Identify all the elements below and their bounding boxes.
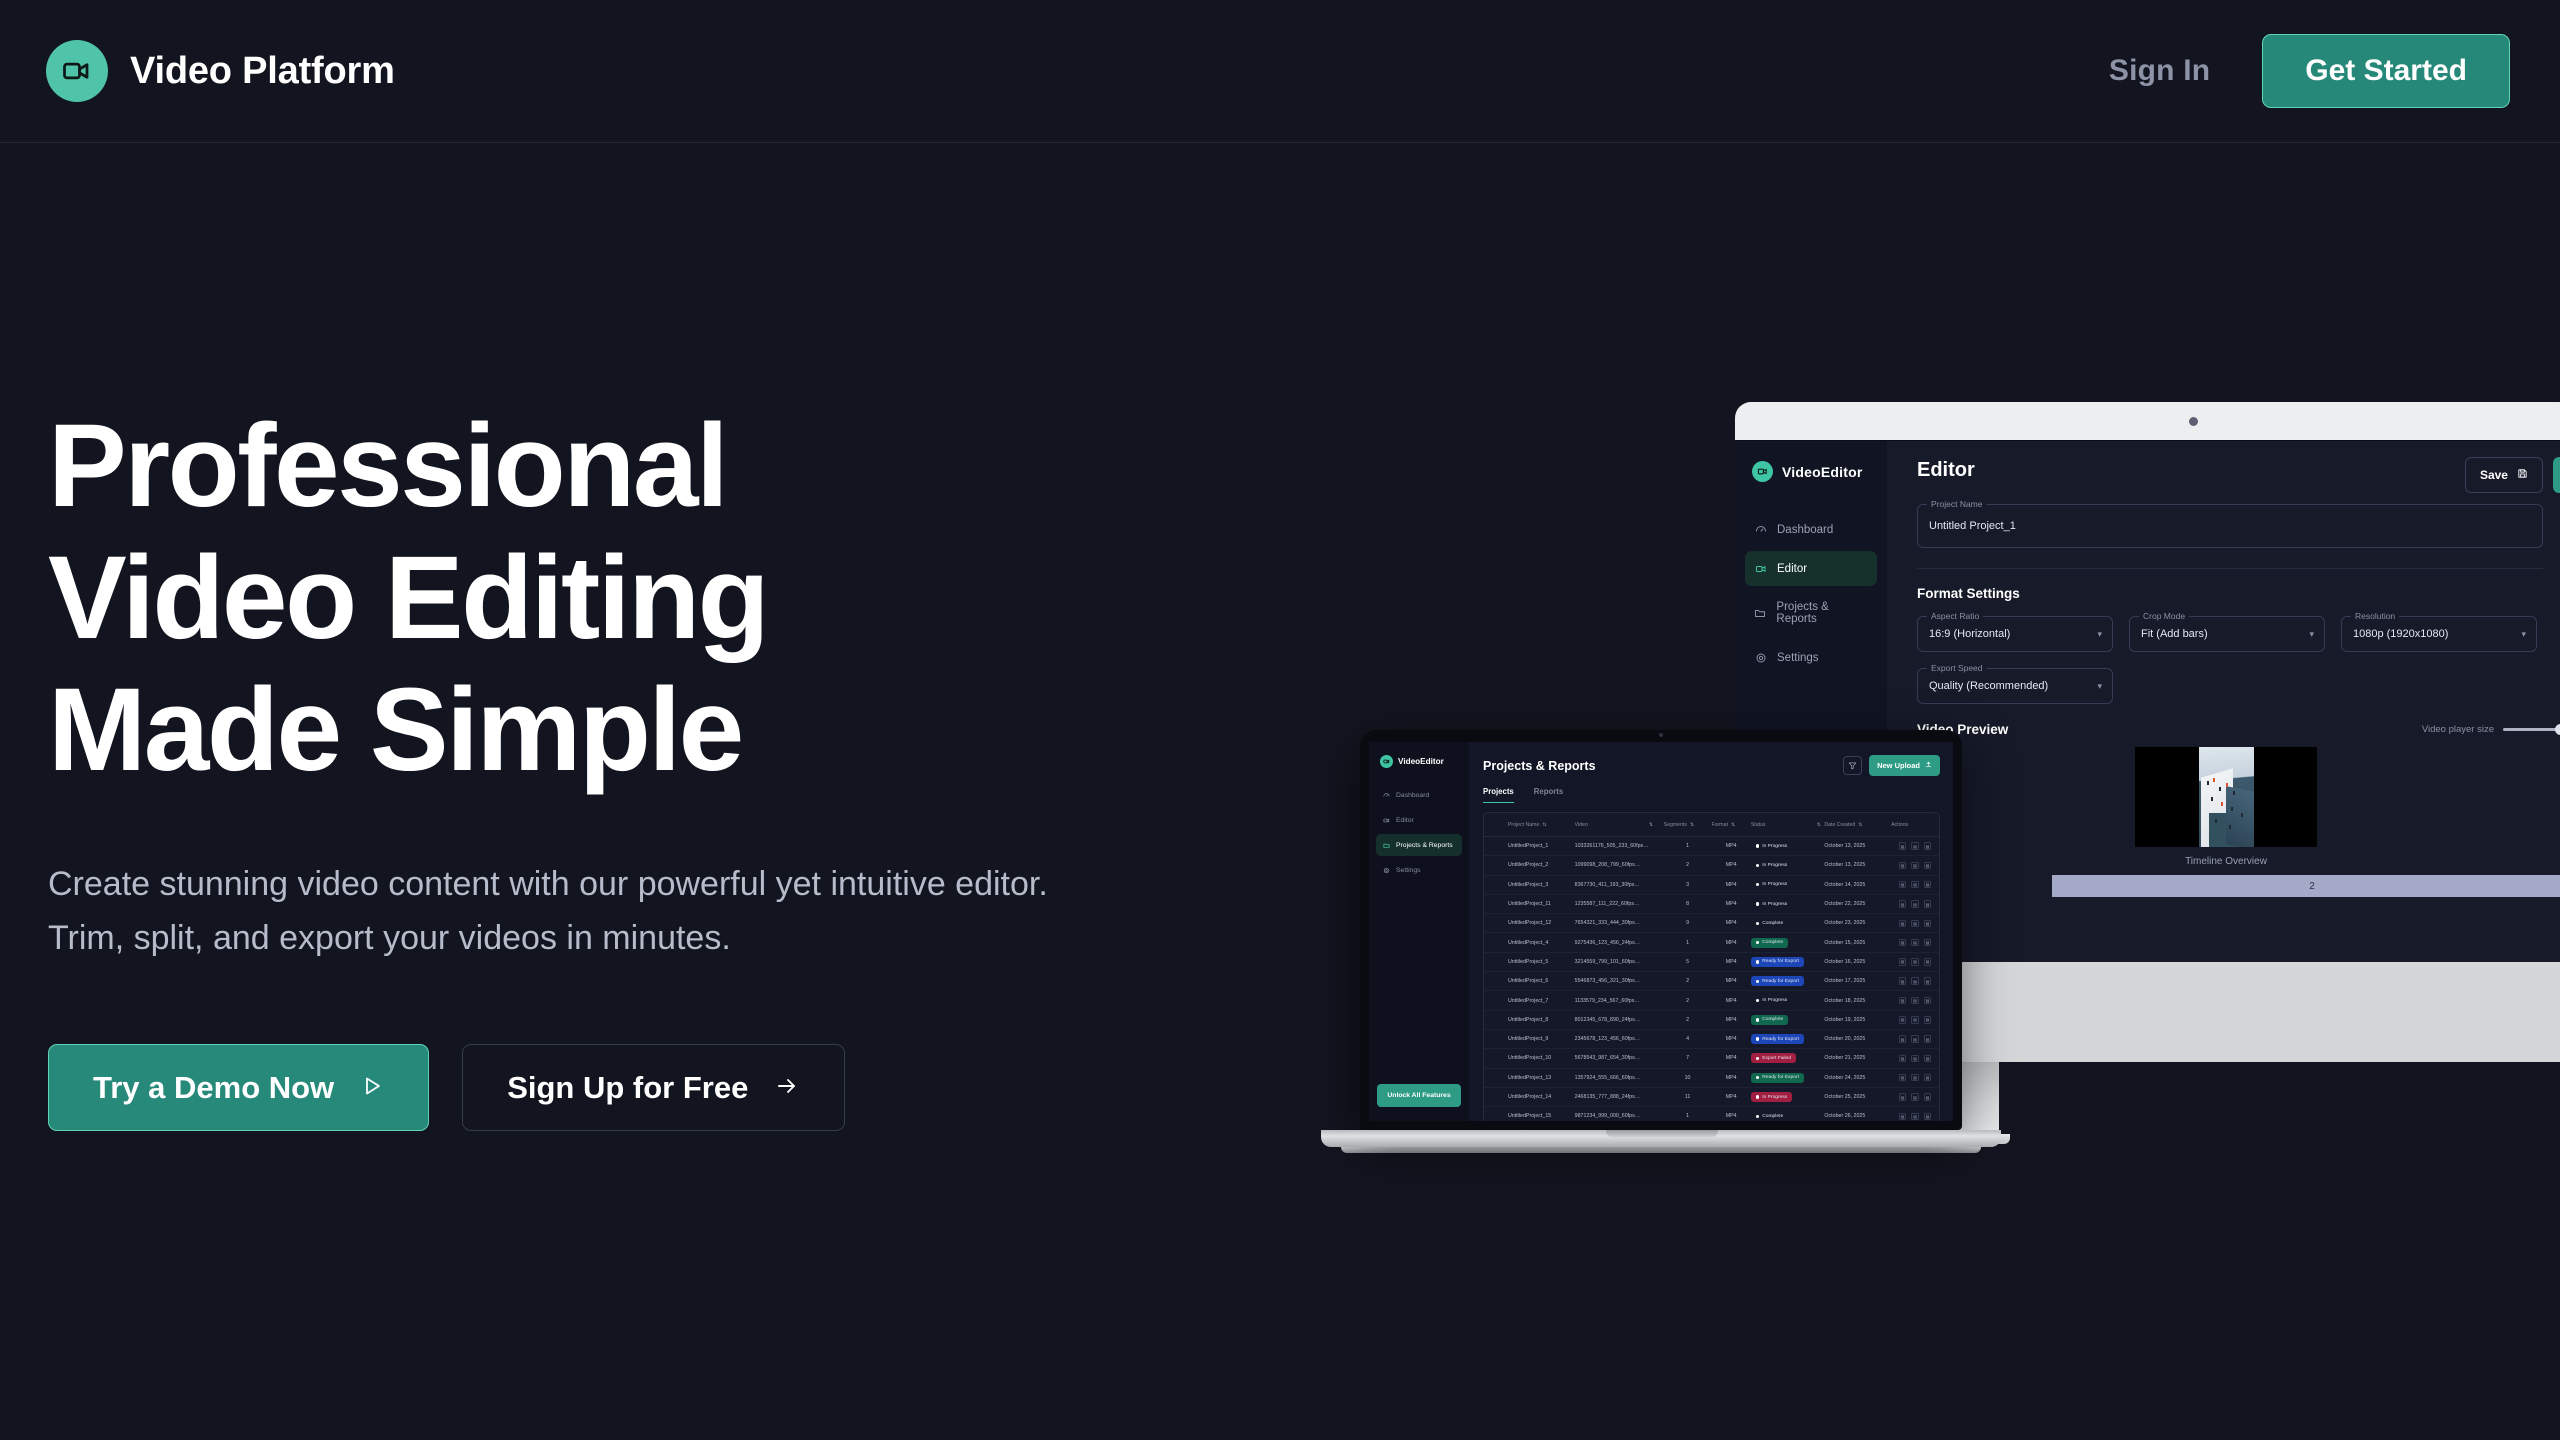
trash-icon[interactable]: ▤ (1924, 881, 1932, 889)
cell-status: In Progress (1751, 841, 1825, 851)
cell-project-name: UntitledProject_15 (1508, 1113, 1575, 1119)
edit-icon[interactable]: ▤ (1899, 1055, 1907, 1063)
status-badge: Ready for Export (1751, 957, 1804, 967)
cell-project-name: UntitledProject_7 (1508, 998, 1575, 1004)
row-checkbox[interactable] (1484, 1074, 1508, 1081)
row-checkbox[interactable] (1484, 958, 1508, 965)
cell-status: In Progress (1751, 1092, 1825, 1102)
sort-icon: ⇅ (1817, 822, 1821, 828)
laptop-trackpad-notch (1606, 1130, 1718, 1137)
editor-header-actions: Save Exp (2465, 457, 2560, 493)
cell-date-created: October 23, 2025 (1824, 920, 1891, 926)
cell-date-created: October 20, 2025 (1824, 1036, 1891, 1042)
edit-icon[interactable]: ▤ (1899, 881, 1907, 889)
hero-title-line-3: Made Simple (48, 664, 742, 796)
sort-icon: ⇅ (1858, 822, 1862, 828)
status-badge: In Progress (1751, 899, 1792, 909)
crop-mode-value: Fit (Add bars) (2141, 628, 2208, 640)
save-button[interactable]: Save (2465, 457, 2543, 493)
cell-format: MP4 (1712, 1055, 1751, 1061)
cell-project-name: UntitledProject_4 (1508, 940, 1575, 946)
download-icon[interactable]: ▤ (1911, 900, 1919, 908)
cell-segments: 1 (1664, 843, 1712, 849)
edit-icon[interactable]: ▤ (1899, 997, 1907, 1005)
row-checkbox[interactable] (1484, 843, 1508, 850)
sidebar-item-settings[interactable]: Settings (1745, 640, 1877, 675)
crop-mode-legend: Crop Mode (2139, 611, 2189, 621)
status-badge: Complete (1751, 1111, 1788, 1121)
sign-up-button[interactable]: Sign Up for Free (462, 1044, 845, 1131)
resolution-value: 1080p (1920x1080) (2353, 628, 2448, 640)
edit-icon[interactable]: ▤ (1899, 1035, 1907, 1043)
cell-format: MP4 (1712, 998, 1751, 1004)
download-icon[interactable]: ▤ (1911, 1093, 1919, 1101)
cell-date-created: October 17, 2025 (1824, 978, 1891, 984)
download-icon[interactable]: ▤ (1911, 1035, 1919, 1043)
cell-format: MP4 (1712, 959, 1751, 965)
header-actions: Sign In Get Started (2109, 34, 2510, 108)
cell-segments: 2 (1664, 862, 1712, 868)
cell-segments: 7 (1664, 1055, 1712, 1061)
table-row[interactable]: UntitledProject_71133579_234_567_60fps…2… (1484, 991, 1939, 1010)
cell-actions: ▤▤▤ (1891, 997, 1939, 1005)
sidebar-label: Projects & Reports (1396, 842, 1453, 849)
video-icon (1754, 562, 1767, 575)
gear-icon (1382, 866, 1390, 874)
export-speed-legend: Export Speed (1927, 663, 1987, 673)
row-checkbox[interactable] (1484, 1113, 1508, 1120)
table-row[interactable]: UntitledProject_142468135_777_888_24fps…… (1484, 1088, 1939, 1107)
cell-format: MP4 (1712, 920, 1751, 926)
get-started-button[interactable]: Get Started (2262, 34, 2510, 108)
cell-video: 8367730_411_193_30fps… (1575, 882, 1664, 888)
cell-video: 3214559_799_101_60fps… (1575, 959, 1664, 965)
table-body: UntitledProject_11033261176_505_233_60fp… (1484, 837, 1939, 1121)
cell-project-name: UntitledProject_14 (1508, 1094, 1575, 1100)
laptop-foot (1341, 1147, 1981, 1153)
new-upload-label: New Upload (1877, 761, 1920, 770)
status-badge: In Progress (1751, 841, 1792, 851)
try-demo-label: Try a Demo Now (93, 1072, 334, 1103)
hero-title-line-1: Professional (48, 400, 726, 532)
unlock-all-features-button[interactable]: Unlock All Features (1377, 1084, 1461, 1107)
table-row[interactable]: UntitledProject_53214559_799_101_60fps…5… (1484, 953, 1939, 972)
download-icon[interactable]: ▤ (1911, 1113, 1919, 1121)
chevron-down-icon: ▾ (2097, 681, 2102, 692)
cell-actions: ▤▤▤ (1891, 862, 1939, 870)
cell-video: 9275436_123_456_24fps… (1575, 940, 1664, 946)
cell-status: Complete (1751, 938, 1825, 948)
webcam-icon (1659, 733, 1663, 737)
cell-status: In Progress (1751, 860, 1825, 870)
resolution-select[interactable]: Resolution 1080p (1920x1080) ▾ (2341, 616, 2537, 652)
hero-cta-group: Try a Demo Now Sign Up for Free (48, 1044, 1108, 1131)
table-row[interactable]: UntitledProject_88012345_678_890_24fps…2… (1484, 1011, 1939, 1030)
table-row[interactable]: UntitledProject_65546873_456_321_30fps…2… (1484, 972, 1939, 991)
cell-project-name: UntitledProject_2 (1508, 862, 1575, 868)
timeline-bar[interactable]: 2 (2052, 875, 2560, 897)
edit-icon[interactable]: ▤ (1899, 862, 1907, 870)
cell-date-created: October 14, 2025 (1824, 882, 1891, 888)
gear-icon (1754, 651, 1767, 664)
cell-segments: 2 (1664, 1017, 1712, 1023)
trash-icon[interactable]: ▤ (1924, 1055, 1932, 1063)
sign-in-link[interactable]: Sign In (2109, 54, 2210, 88)
sort-icon: ⇅ (1731, 822, 1735, 828)
site-header: Video Platform Sign In Get Started (0, 0, 2560, 143)
download-icon[interactable]: ▤ (1911, 997, 1919, 1005)
cell-video: 5546873_456_321_30fps… (1575, 978, 1664, 984)
cell-format: MP4 (1712, 862, 1751, 868)
cell-segments: 2 (1664, 998, 1712, 1004)
row-checkbox[interactable] (1484, 1036, 1508, 1043)
edit-icon[interactable]: ▤ (1899, 900, 1907, 908)
cell-status: Ready for Export (1751, 1034, 1825, 1044)
cell-project-name: UntitledProject_6 (1508, 978, 1575, 984)
sidebar-item-editor[interactable]: Editor (1376, 809, 1462, 831)
arrow-right-icon (774, 1072, 800, 1103)
cell-date-created: October 19, 2025 (1824, 1017, 1891, 1023)
trash-icon[interactable]: ▤ (1924, 842, 1932, 850)
tab-projects[interactable]: Projects (1483, 787, 1514, 803)
edit-icon[interactable]: ▤ (1899, 1074, 1907, 1082)
hero-section: Professional Video Editing Made Simple C… (48, 400, 1108, 1131)
cell-project-name: UntitledProject_10 (1508, 1055, 1575, 1061)
download-icon[interactable]: ▤ (1911, 881, 1919, 889)
column-header-date-created[interactable]: Date Created⇅ (1824, 822, 1891, 828)
brand-name: Video Platform (130, 50, 395, 93)
cell-format: MP4 (1712, 1017, 1751, 1023)
cell-video: 2345678_123_456_60fps… (1575, 1036, 1664, 1042)
download-icon[interactable]: ▤ (1911, 939, 1919, 947)
cell-actions: ▤▤▤ (1891, 1074, 1939, 1082)
cell-actions: ▤▤▤ (1891, 977, 1939, 985)
folder-icon (1382, 841, 1390, 849)
cell-status: In Progress (1751, 899, 1825, 909)
dashboard-icon (1754, 523, 1767, 536)
column-header-video[interactable]: Video⇅ (1575, 822, 1664, 828)
trash-icon[interactable]: ▤ (1924, 1093, 1932, 1101)
edit-icon[interactable]: ▤ (1899, 920, 1907, 928)
edit-icon[interactable]: ▤ (1899, 939, 1907, 947)
folder-icon (1754, 607, 1766, 620)
table-row[interactable]: UntitledProject_92345678_123_456_60fps…4… (1484, 1030, 1939, 1049)
cell-segments: 9 (1664, 920, 1712, 926)
cell-project-name: UntitledProject_5 (1508, 959, 1575, 965)
cell-video: 8012345_678_890_24fps… (1575, 1017, 1664, 1023)
video-icon (1380, 755, 1393, 768)
table-row[interactable]: UntitledProject_11033261176_505_233_60fp… (1484, 837, 1939, 856)
cell-segments: 11 (1664, 1094, 1712, 1100)
edit-icon[interactable]: ▤ (1899, 977, 1907, 985)
sort-icon: ⇅ (1542, 822, 1546, 828)
hero-title-line-2: Video Editing (48, 532, 767, 664)
trash-icon[interactable]: ▤ (1924, 1113, 1932, 1121)
export-button[interactable]: Exp (2553, 457, 2560, 493)
sidebar-label: Projects & Reports (1776, 601, 1868, 625)
download-icon[interactable]: ▤ (1911, 862, 1919, 870)
status-badge: Complete (1751, 918, 1788, 928)
status-badge: Complete (1751, 1015, 1788, 1025)
video-frame-thumbnail (2199, 747, 2254, 847)
cell-format: MP4 (1712, 882, 1751, 888)
download-icon[interactable]: ▤ (1911, 1074, 1919, 1082)
editor-app-logo-text: VideoEditor (1782, 464, 1863, 480)
cell-format: MP4 (1712, 1113, 1751, 1119)
projects-header-actions: New Upload (1843, 755, 1940, 776)
projects-header: Projects & Reports New Upload (1483, 755, 1953, 776)
row-checkbox[interactable] (1484, 1055, 1508, 1062)
export-speed-value: Quality (Recommended) (1929, 680, 2048, 692)
editor-header: Editor (1917, 459, 2560, 482)
sidebar-item-projects-reports[interactable]: Projects & Reports (1376, 834, 1462, 856)
column-header-status[interactable]: Status⇅ (1751, 822, 1825, 828)
chevron-down-icon: ▾ (2521, 629, 2526, 640)
cell-video: 1357924_555_666_60fps… (1575, 1075, 1664, 1081)
format-settings-row-2: Export Speed Quality (Recommended) ▾ (1917, 668, 2560, 704)
projects-main: Projects & Reports New Upload (1469, 742, 1953, 1121)
cell-actions: ▤▤▤ (1891, 881, 1939, 889)
tab-reports[interactable]: Reports (1534, 787, 1563, 803)
edit-icon[interactable]: ▤ (1899, 958, 1907, 966)
divider (1917, 568, 2543, 569)
row-checkbox[interactable] (1484, 862, 1508, 869)
row-checkbox[interactable] (1484, 881, 1508, 888)
sign-up-label: Sign Up for Free (507, 1072, 748, 1103)
cell-status: Complete (1751, 918, 1825, 928)
laptop-screen: VideoEditor Dashboard Editor (1369, 742, 1953, 1121)
floppy-disk-icon (2517, 468, 2528, 482)
try-demo-button[interactable]: Try a Demo Now (48, 1044, 429, 1131)
project-name-field[interactable]: Project Name Untitled Project_1 (1917, 504, 2543, 548)
table-row[interactable]: UntitledProject_131357924_555_666_60fps…… (1484, 1069, 1939, 1088)
cell-date-created: October 24, 2025 (1824, 1075, 1891, 1081)
cell-date-created: October 21, 2025 (1824, 1055, 1891, 1061)
sidebar-item-settings[interactable]: Settings (1376, 859, 1462, 881)
filter-icon[interactable] (1843, 756, 1862, 775)
projects-table: Project Name⇅ Video⇅ Segments⇅ Format⇅ S… (1483, 812, 1940, 1121)
trash-icon[interactable]: ▤ (1924, 977, 1932, 985)
table-row[interactable]: UntitledProject_38367730_411_193_30fps…3… (1484, 876, 1939, 895)
table-row[interactable]: UntitledProject_105678543_987_654_30fps…… (1484, 1049, 1939, 1068)
play-icon (360, 1072, 384, 1103)
trash-icon[interactable]: ▤ (1924, 958, 1932, 966)
download-icon[interactable]: ▤ (1911, 977, 1919, 985)
download-icon[interactable]: ▤ (1911, 1055, 1919, 1063)
download-icon[interactable]: ▤ (1911, 842, 1919, 850)
editor-app-logo: VideoEditor (1735, 461, 1887, 482)
cell-status: In Progress (1751, 880, 1825, 890)
slider-knob[interactable] (2555, 724, 2560, 735)
column-header-actions: Actions (1891, 822, 1939, 828)
editor-page-title: Editor (1917, 459, 1975, 482)
cell-segments: 10 (1664, 1075, 1712, 1081)
edit-icon[interactable]: ▤ (1899, 842, 1907, 850)
cell-format: MP4 (1712, 1036, 1751, 1042)
table-row[interactable]: UntitledProject_21099098_208_799_60fps…2… (1484, 856, 1939, 875)
trash-icon[interactable]: ▤ (1924, 1074, 1932, 1082)
project-name-legend: Project Name (1927, 499, 1987, 509)
format-settings-title: Format Settings (1917, 586, 2560, 601)
trash-icon[interactable]: ▤ (1924, 1016, 1932, 1024)
status-badge: Ready for Export (1751, 1073, 1804, 1083)
trash-icon[interactable]: ▤ (1924, 1035, 1932, 1043)
webcam-icon (2189, 417, 2198, 426)
status-badge: In Progress (1751, 880, 1792, 890)
sidebar-label: Settings (1396, 867, 1421, 874)
monitor-bezel (1735, 402, 2560, 440)
projects-app: VideoEditor Dashboard Editor (1369, 742, 1953, 1121)
laptop-mockup: VideoEditor Dashboard Editor (1360, 730, 2040, 1153)
projects-page-title: Projects & Reports (1483, 759, 1596, 773)
cell-status: Ready for Export (1751, 957, 1825, 967)
cell-actions: ▤▤▤ (1891, 1113, 1939, 1121)
cell-video: 1235587_111_222_60fps… (1575, 901, 1664, 907)
cell-format: MP4 (1712, 901, 1751, 907)
sidebar-item-dashboard[interactable]: Dashboard (1376, 784, 1462, 806)
cell-project-name: UntitledProject_8 (1508, 1017, 1575, 1023)
row-checkbox[interactable] (1484, 978, 1508, 985)
cell-actions: ▤▤▤ (1891, 842, 1939, 850)
aspect-ratio-value: 16:9 (Horizontal) (1929, 628, 2010, 640)
timeline-overview-label: Timeline Overview (2185, 856, 2267, 867)
column-header-project-name[interactable]: Project Name⇅ (1508, 822, 1575, 828)
table-row[interactable]: UntitledProject_159871234_999_000_60fps…… (1484, 1107, 1939, 1121)
cell-video: 5678543_987_654_30fps… (1575, 1055, 1664, 1061)
cell-date-created: October 15, 2025 (1824, 940, 1891, 946)
table-row[interactable]: UntitledProject_49275436_123_456_24fps…1… (1484, 933, 1939, 952)
laptop-base (1321, 1130, 2001, 1147)
cell-project-name: UntitledProject_12 (1508, 920, 1575, 926)
trash-icon[interactable]: ▤ (1924, 997, 1932, 1005)
column-header-segments[interactable]: Segments⇅ (1664, 822, 1712, 828)
video-icon (1382, 816, 1390, 824)
cell-date-created: October 25, 2025 (1824, 1094, 1891, 1100)
trash-icon[interactable]: ▤ (1924, 862, 1932, 870)
cell-actions: ▤▤▤ (1891, 900, 1939, 908)
format-settings-row-1: Aspect Ratio 16:9 (Horizontal) ▾ Crop Mo… (1917, 616, 2560, 652)
sidebar-label: Settings (1777, 652, 1819, 664)
cell-format: MP4 (1712, 940, 1751, 946)
trash-icon[interactable]: ▤ (1924, 900, 1932, 908)
column-header-format[interactable]: Format⇅ (1712, 822, 1751, 828)
download-icon[interactable]: ▤ (1911, 1016, 1919, 1024)
cell-format: MP4 (1712, 1075, 1751, 1081)
sidebar-item-dashboard[interactable]: Dashboard (1745, 512, 1877, 547)
row-checkbox[interactable] (1484, 1016, 1508, 1023)
sidebar-item-projects-reports[interactable]: Projects & Reports (1745, 590, 1877, 636)
cell-status: Ready for Export (1751, 976, 1825, 986)
cell-status: Complete (1751, 1015, 1825, 1025)
cell-status: Ready for Export (1751, 1073, 1825, 1083)
projects-tabs: Projects Reports (1483, 787, 1953, 803)
brand-logo[interactable]: Video Platform (46, 40, 395, 102)
sidebar-label: Editor (1777, 563, 1807, 575)
slider-track[interactable] (2503, 728, 2560, 731)
dashboard-icon (1382, 791, 1390, 799)
cell-status: In Progress (1751, 996, 1825, 1006)
edit-icon[interactable]: ▤ (1899, 1113, 1907, 1121)
cell-segments: 1 (1664, 1113, 1712, 1119)
cell-video: 1033261176_505_233_60fps… (1575, 843, 1664, 849)
save-label: Save (2480, 468, 2508, 482)
project-name-value: Untitled Project_1 (1929, 520, 2016, 532)
editor-nav: Dashboard Editor Projects & Reports (1735, 512, 1887, 675)
upload-icon (1925, 761, 1932, 770)
cell-segments: 5 (1664, 959, 1712, 965)
crop-mode-select[interactable]: Crop Mode Fit (Add bars) ▾ (2129, 616, 2325, 652)
download-icon[interactable]: ▤ (1911, 920, 1919, 928)
table-header-row: Project Name⇅ Video⇅ Segments⇅ Format⇅ S… (1484, 813, 1939, 837)
select-all-checkbox[interactable] (1484, 822, 1508, 827)
video-icon (1752, 461, 1773, 482)
cell-segments: 2 (1664, 978, 1712, 984)
cell-segments: 4 (1664, 1036, 1712, 1042)
cell-status: Export Failed (1751, 1053, 1825, 1063)
device-showcase: VideoEditor Dashboard Editor (1360, 380, 2560, 1200)
projects-app-logo-text: VideoEditor (1398, 757, 1444, 766)
row-checkbox[interactable] (1484, 920, 1508, 927)
cell-actions: ▤▤▤ (1891, 1055, 1939, 1063)
cell-actions: ▤▤▤ (1891, 1016, 1939, 1024)
export-speed-select[interactable]: Export Speed Quality (Recommended) ▾ (1917, 668, 2113, 704)
cell-date-created: October 26, 2025 (1824, 1113, 1891, 1119)
new-upload-button[interactable]: New Upload (1869, 755, 1940, 776)
edit-icon[interactable]: ▤ (1899, 1093, 1907, 1101)
cell-format: MP4 (1712, 843, 1751, 849)
table-row[interactable]: UntitledProject_127654321_333_444_30fps…… (1484, 914, 1939, 933)
cell-segments: 8 (1664, 901, 1712, 907)
aspect-ratio-select[interactable]: Aspect Ratio 16:9 (Horizontal) ▾ (1917, 616, 2113, 652)
status-badge: Complete (1751, 938, 1788, 948)
status-badge: Ready for Export (1751, 1034, 1804, 1044)
cell-date-created: October 22, 2025 (1824, 901, 1891, 907)
video-player[interactable] (2135, 747, 2317, 847)
row-checkbox[interactable] (1484, 939, 1508, 946)
cell-format: MP4 (1712, 1094, 1751, 1100)
status-badge: Export Failed (1751, 1053, 1796, 1063)
status-badge: In Progress (1751, 860, 1792, 870)
row-checkbox[interactable] (1484, 1094, 1508, 1101)
video-player-size-control[interactable]: Video player size (2422, 724, 2560, 735)
hero-subtitle: Create stunning video content with our p… (48, 858, 1108, 965)
row-checkbox[interactable] (1484, 997, 1508, 1004)
sidebar-item-editor[interactable]: Editor (1745, 551, 1877, 586)
sort-icon: ⇅ (1690, 822, 1694, 828)
download-icon[interactable]: ▤ (1911, 958, 1919, 966)
cell-segments: 1 (1664, 940, 1712, 946)
cell-segments: 3 (1664, 882, 1712, 888)
table-row[interactable]: UntitledProject_111235587_111_222_60fps…… (1484, 895, 1939, 914)
cell-video: 7654321_333_444_30fps… (1575, 920, 1664, 926)
cell-date-created: October 13, 2025 (1824, 843, 1891, 849)
edit-icon[interactable]: ▤ (1899, 1016, 1907, 1024)
cell-actions: ▤▤▤ (1891, 920, 1939, 928)
video-camera-icon (46, 40, 108, 102)
trash-icon[interactable]: ▤ (1924, 920, 1932, 928)
row-checkbox[interactable] (1484, 901, 1508, 908)
video-player-size-label: Video player size (2422, 724, 2494, 735)
projects-nav: Dashboard Editor Projects & Reports (1369, 784, 1469, 881)
sidebar-label: Editor (1396, 817, 1414, 824)
status-badge: Ready for Export (1751, 976, 1804, 986)
cell-date-created: October 13, 2025 (1824, 862, 1891, 868)
cell-project-name: UntitledProject_3 (1508, 882, 1575, 888)
chevron-down-icon: ▾ (2309, 629, 2314, 640)
cell-project-name: UntitledProject_11 (1508, 901, 1575, 907)
cell-date-created: October 16, 2025 (1824, 959, 1891, 965)
trash-icon[interactable]: ▤ (1924, 939, 1932, 947)
